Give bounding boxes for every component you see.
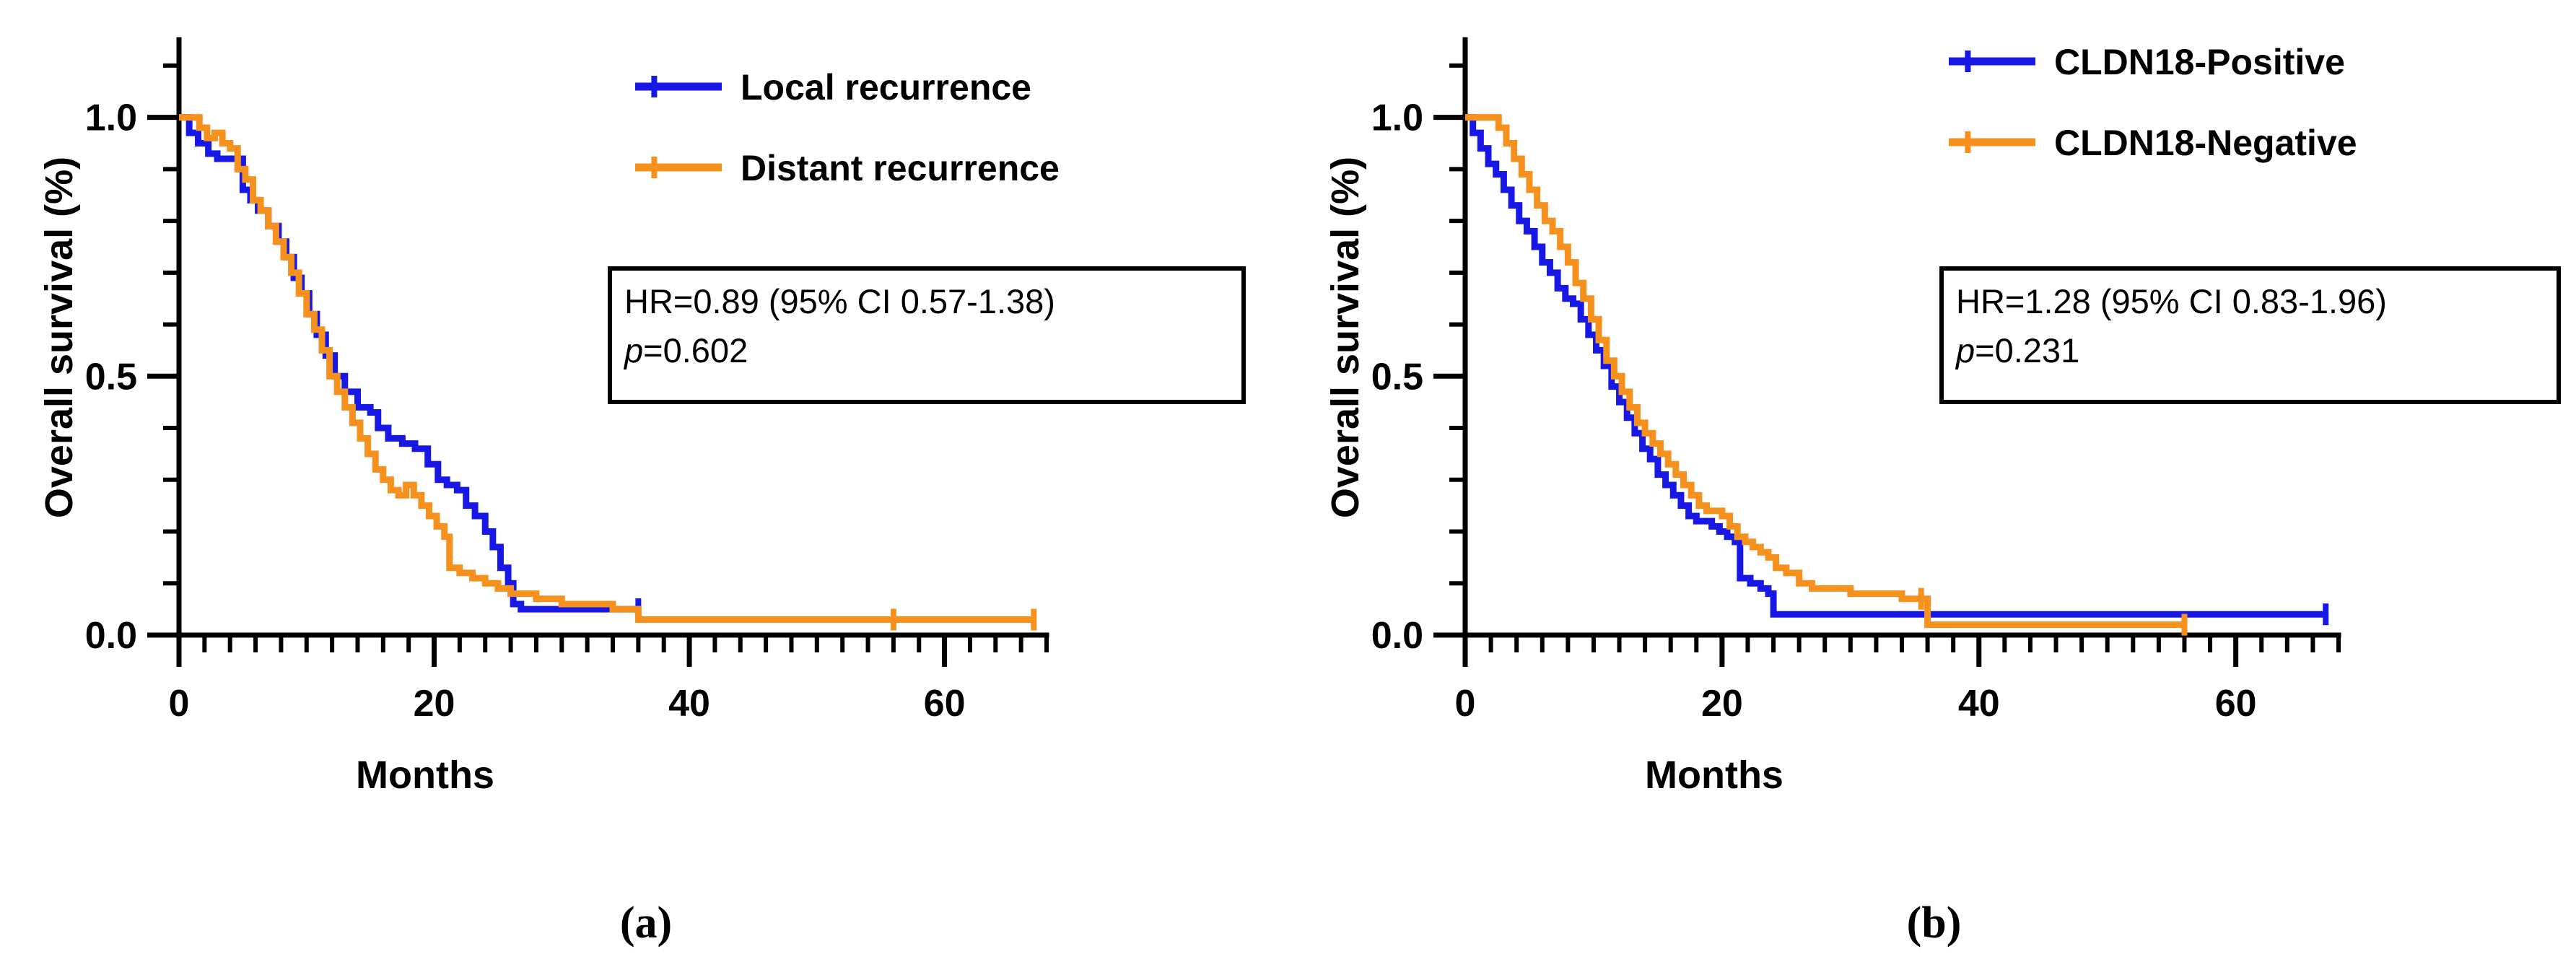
stats-p-symbol: p <box>623 331 643 370</box>
legend-label-1: CLDN18-Positive <box>2054 42 2345 82</box>
panel-a: 0.00.51.00204060Overall survival (%)Mont… <box>0 0 1292 962</box>
curve-series-2 <box>179 118 1034 620</box>
curve-series-1 <box>179 118 638 610</box>
panel-b-caption: (b) <box>1292 898 2576 949</box>
legend-label-2: Distant recurrence <box>741 148 1060 188</box>
stats-p-symbol: p <box>1955 331 1975 370</box>
panel-a-caption: (a) <box>0 898 1292 949</box>
x-tick-label: 40 <box>1958 683 2000 725</box>
panel-b: 0.00.51.00204060Overall survival (%)Mont… <box>1292 0 2576 962</box>
stats-p-line: p=0.602 <box>623 331 748 370</box>
y-tick-label: 0.5 <box>85 356 137 398</box>
x-tick-label: 20 <box>1701 683 1743 725</box>
curve-series-1 <box>1465 118 2326 615</box>
y-tick-label: 1.0 <box>85 97 137 139</box>
x-tick-label: 0 <box>1455 683 1476 725</box>
stats-p-value: =0.231 <box>1975 331 2079 370</box>
curve-series-2 <box>1465 118 2184 625</box>
x-tick-label: 40 <box>668 683 710 725</box>
y-tick-label: 0.5 <box>1371 356 1423 398</box>
y-tick-label: 1.0 <box>1371 97 1423 139</box>
stats-hr-line: HR=0.89 (95% CI 0.57-1.38) <box>624 282 1055 320</box>
y-axis-title: Overall survival (%) <box>1324 157 1367 518</box>
x-axis-title: Months <box>1645 753 1783 797</box>
figure-root: 0.00.51.00204060Overall survival (%)Mont… <box>0 0 2576 962</box>
y-tick-label: 0.0 <box>85 615 137 657</box>
x-tick-label: 60 <box>924 683 966 725</box>
stats-p-value: =0.602 <box>643 331 748 370</box>
kaplan-meier-chart-b: 0.00.51.00204060Overall survival (%)Mont… <box>1292 0 2576 902</box>
x-tick-label: 60 <box>2215 683 2257 725</box>
stats-p-line: p=0.231 <box>1955 331 2079 370</box>
x-tick-label: 0 <box>169 683 190 725</box>
legend-label-1: Local recurrence <box>741 67 1031 108</box>
y-axis-title: Overall survival (%) <box>38 157 81 518</box>
x-tick-label: 20 <box>414 683 455 725</box>
y-tick-label: 0.0 <box>1371 615 1423 657</box>
x-axis-title: Months <box>356 753 494 797</box>
legend-label-2: CLDN18-Negative <box>2054 123 2357 163</box>
kaplan-meier-chart-a: 0.00.51.00204060Overall survival (%)Mont… <box>0 0 1292 902</box>
stats-hr-line: HR=1.28 (95% CI 0.83-1.96) <box>1956 282 2387 320</box>
